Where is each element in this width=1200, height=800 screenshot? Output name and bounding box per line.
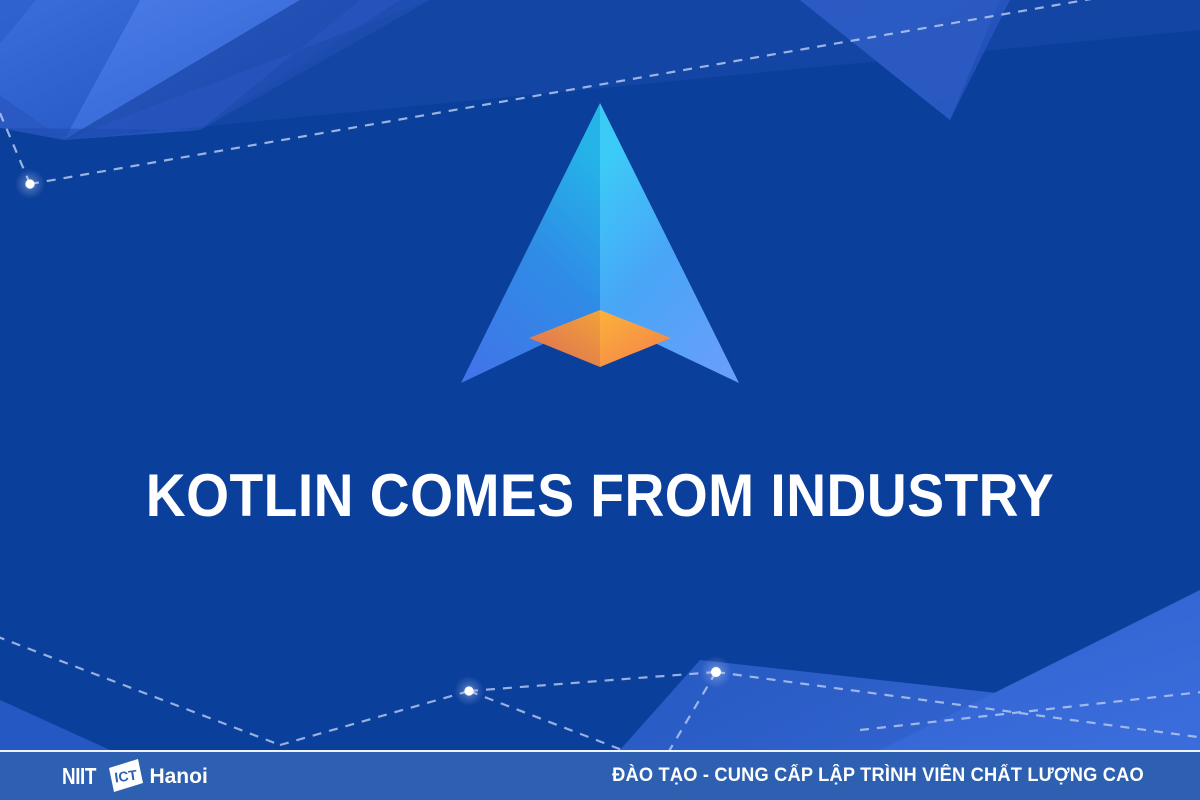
node-top-left bbox=[15, 169, 45, 199]
node-bottom-left bbox=[454, 676, 484, 706]
brand-niit-text: NIIT bbox=[62, 765, 96, 788]
brand-logo[interactable]: NIIT ICT Hanoi bbox=[62, 752, 208, 800]
node-bottom-center bbox=[700, 656, 732, 688]
footer-bar: NIIT ICT Hanoi ĐÀO TẠO - CUNG CẤP LẬP TR… bbox=[0, 750, 1200, 800]
slide-canvas: KOTLIN COMES FROM INDUSTRY NIIT ICT Hano… bbox=[0, 0, 1200, 800]
svg-text:ICT: ICT bbox=[114, 766, 139, 785]
ict-badge-icon: ICT bbox=[105, 759, 145, 793]
footer-tagline: ĐÀO TẠO - CUNG CẤP LẬP TRÌNH VIÊN CHẤT L… bbox=[612, 765, 1144, 787]
page-title: KOTLIN COMES FROM INDUSTRY bbox=[48, 462, 1152, 530]
arrow-pyramid-icon bbox=[455, 95, 745, 390]
brand-hanoi-text: Hanoi bbox=[149, 766, 207, 787]
